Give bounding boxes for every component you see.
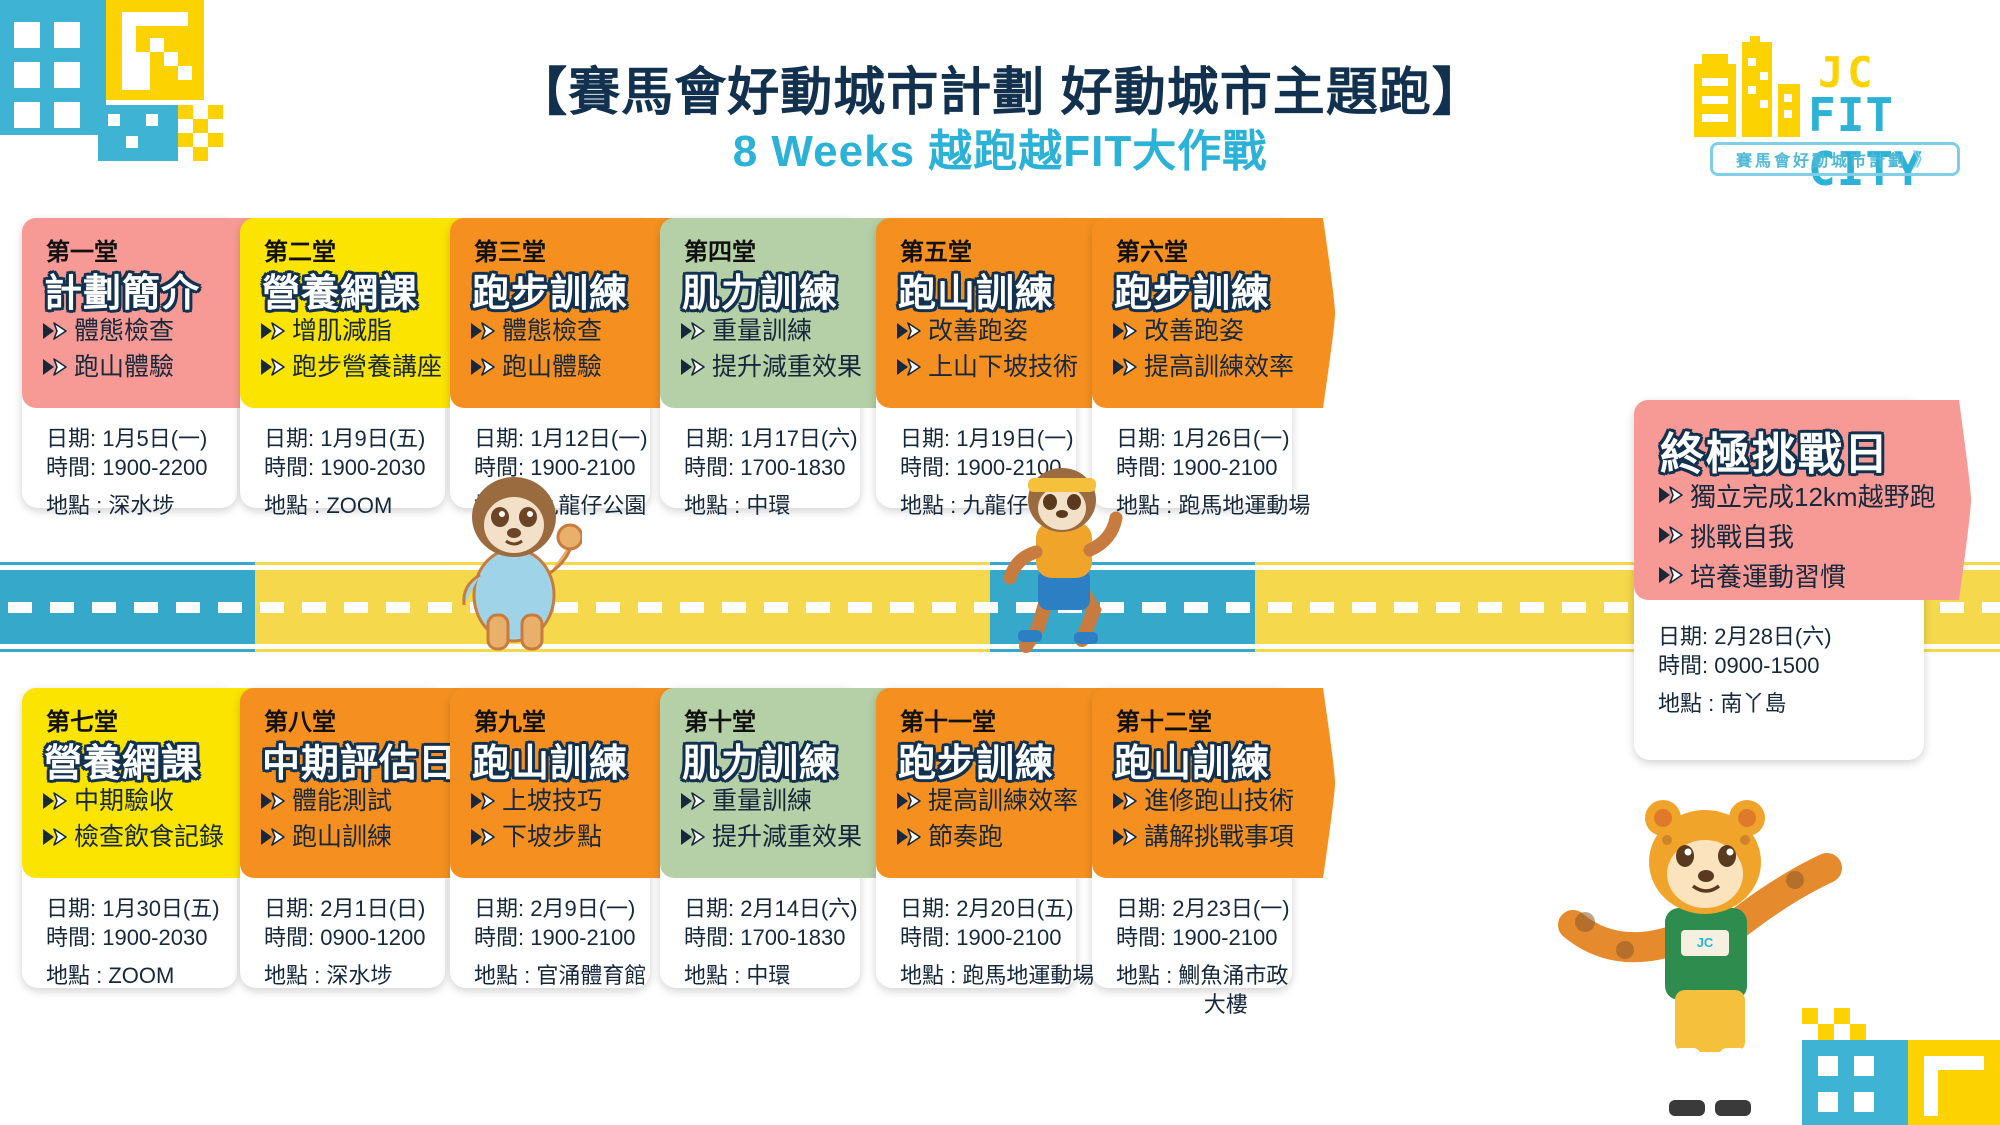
road-dash (1478, 602, 1502, 613)
lesson-time: 時間: 1900-2030 (46, 923, 220, 952)
road-dash (722, 602, 746, 613)
lesson-bullet: 檢查飲食記錄 (42, 820, 224, 854)
lesson-title: 營養網課 (262, 262, 418, 317)
road-dash (344, 602, 368, 613)
double-arrow-bullet-icon (42, 350, 68, 384)
lesson-place: 地點 : 中環 (684, 961, 858, 990)
lesson-meta: 日期: 1月5日(一)時間: 1900-2200地點 : 深水埗 (46, 424, 207, 520)
decor-pixel (1854, 1056, 1874, 1076)
lesson-meta: 日期: 1月30日(五)時間: 1900-2030地點 : ZOOM (46, 894, 220, 990)
lesson-bullet-list: 獨立完成12km越野跑挑戰自我培養運動習慣 (1658, 478, 1936, 598)
road-dash (302, 602, 326, 613)
double-arrow-bullet-icon (680, 314, 706, 348)
lesson-title: 跑山訓練 (1114, 732, 1270, 787)
double-arrow-bullet-icon (896, 820, 922, 854)
lesson-time: 時間: 1900-2100 (474, 923, 646, 952)
lesson-bullet-text: 上山下坡技術 (928, 350, 1078, 384)
lesson-bullet-text: 重量訓練 (712, 314, 812, 348)
lesson-bullet-text: 重量訓練 (712, 784, 812, 818)
lesson-meta: 日期: 1月9日(五)時間: 1900-2030地點 : ZOOM (264, 424, 425, 520)
lesson-bullet-text: 體態檢查 (74, 314, 174, 348)
double-arrow-bullet-icon (896, 350, 922, 384)
lesson-bullet-text: 改善跑姿 (928, 314, 1028, 348)
lesson-card[interactable]: 第十堂肌力訓練重量訓練提升減重效果日期: 2月14日(六)時間: 1700-18… (660, 688, 902, 988)
lesson-bullet: 提升減重效果 (680, 820, 862, 854)
lesson-bullet-text: 獨立完成12km越野跑 (1690, 478, 1936, 516)
lesson-date: 日期: 2月14日(六) (684, 894, 858, 923)
lesson-bullet-list: 改善跑姿提高訓練效率 (1112, 314, 1294, 386)
decor-pixel (1854, 1092, 1874, 1112)
double-arrow-bullet-icon (260, 314, 286, 348)
lesson-bullet-text: 跑山訓練 (292, 820, 392, 854)
lesson-bullet-text: 中期驗收 (74, 784, 174, 818)
double-arrow-bullet-icon (1112, 784, 1138, 818)
double-arrow-bullet-icon (260, 820, 286, 854)
lesson-bullet-text: 檢查飲食記錄 (74, 820, 224, 854)
lesson-bullet: 進修跑山技術 (1112, 784, 1294, 818)
lesson-bullet: 挑戰自我 (1658, 518, 1936, 556)
lesson-bullet-text: 講解挑戰事項 (1144, 820, 1294, 854)
lesson-title: 跑山訓練 (472, 732, 628, 787)
lesson-bullet: 改善跑姿 (896, 314, 1078, 348)
lesson-bullet: 下坡步點 (470, 820, 602, 854)
double-arrow-bullet-icon (1658, 478, 1684, 512)
jc-fit-city-logo: JC FIT CITY 賽馬會好動城市計劃 》 (1690, 32, 1970, 167)
road-dash (1142, 602, 1166, 613)
double-arrow-bullet-icon (896, 314, 922, 348)
lesson-bullet: 重量訓練 (680, 784, 862, 818)
road-dash (134, 602, 158, 613)
lesson-date: 日期: 2月20日(五) (900, 894, 1094, 923)
lesson-bullet: 體能測試 (260, 784, 392, 818)
lesson-date: 日期: 1月19日(一) (900, 424, 1074, 453)
lesson-title: 中期評估日 (262, 732, 457, 787)
lesson-date: 日期: 1月12日(一) (474, 424, 648, 453)
road-dash (1352, 602, 1376, 613)
sloth-mascot-blue (452, 455, 582, 655)
road-dash (680, 602, 704, 613)
road-dash (890, 602, 914, 613)
card-arrow-tip (1291, 688, 1335, 878)
road-dash (596, 602, 620, 613)
lesson-title: 肌力訓練 (682, 262, 838, 317)
city-skyline-icon (1690, 42, 1810, 137)
double-arrow-bullet-icon (1112, 350, 1138, 384)
lesson-title: 跑步訓練 (898, 732, 1054, 787)
lesson-date: 日期: 2月9日(一) (474, 894, 646, 923)
lesson-bullet: 中期驗收 (42, 784, 224, 818)
lesson-place: 地點 : 南丫島 (1658, 689, 1832, 718)
lesson-time: 時間: 1900-2100 (1116, 453, 1310, 482)
double-arrow-bullet-icon (470, 350, 496, 384)
double-arrow-bullet-icon (470, 314, 496, 348)
lesson-bullet-text: 提高訓練效率 (928, 784, 1078, 818)
road-dash (1520, 602, 1544, 613)
double-arrow-bullet-icon (680, 820, 706, 854)
lesson-bullet-text: 改善跑姿 (1144, 314, 1244, 348)
road-dash (848, 602, 872, 613)
lesson-title: 計劃簡介 (44, 262, 200, 317)
lesson-date: 日期: 2月23日(一) (1116, 894, 1290, 923)
road-dash (1436, 602, 1460, 613)
double-arrow-bullet-icon (680, 350, 706, 384)
lesson-time: 時間: 1900-2200 (46, 453, 207, 482)
road-dash (92, 602, 116, 613)
lesson-card[interactable]: 第十一堂跑步訓練提高訓練效率節奏跑日期: 2月20日(五)時間: 1900-21… (876, 688, 1118, 988)
lesson-meta: 日期: 2月28日(六)時間: 0900-1500地點 : 南丫島 (1658, 622, 1832, 718)
lesson-title: 終極挑戰日 (1660, 418, 1890, 482)
lesson-title: 營養網課 (44, 732, 200, 787)
lesson-meta: 日期: 2月23日(一)時間: 1900-2100地點 : 鰂魚涌市政大樓 (1116, 894, 1290, 1019)
lesson-date: 日期: 1月30日(五) (46, 894, 220, 923)
road-dash (8, 602, 32, 613)
double-arrow-bullet-icon (1658, 558, 1684, 592)
road-dash (1394, 602, 1418, 613)
lesson-time: 時間: 0900-1200 (264, 923, 425, 952)
lesson-bullet: 體態檢查 (470, 314, 602, 348)
road-dash (764, 602, 788, 613)
double-arrow-bullet-icon (680, 784, 706, 818)
road-dash (1982, 602, 2000, 613)
lesson-bullet-text: 進修跑山技術 (1144, 784, 1294, 818)
poster-header: 【賽馬會好動城市計劃 好動城市主題跑】 8 Weeks 越跑越FIT大作戰 JC (0, 0, 2000, 190)
lesson-meta: 日期: 2月20日(五)時間: 1900-2100地點 : 跑馬地運動場 (900, 894, 1094, 990)
lesson-bullet-list: 增肌減脂跑步營養講座 (260, 314, 442, 386)
lesson-bullet-list: 體能測試跑山訓練 (260, 784, 392, 856)
lesson-time: 時間: 1700-1830 (684, 923, 858, 952)
lesson-time: 時間: 1900-2100 (900, 923, 1094, 952)
lesson-date: 日期: 1月5日(一) (46, 424, 207, 453)
lesson-place: 地點 : 官涌體育館 (474, 961, 646, 990)
decor-pixel (1924, 1056, 1938, 1116)
double-arrow-bullet-icon (42, 820, 68, 854)
road-dash (932, 602, 956, 613)
double-arrow-bullet-icon (1112, 820, 1138, 854)
lesson-bullet-text: 增肌減脂 (292, 314, 392, 348)
lesson-bullet-text: 上坡技巧 (502, 784, 602, 818)
road-dash (638, 602, 662, 613)
double-arrow-bullet-icon (470, 820, 496, 854)
lesson-time: 時間: 1900-2030 (264, 453, 425, 482)
road-dash (1562, 602, 1586, 613)
double-arrow-bullet-icon (1112, 314, 1138, 348)
lesson-bullet: 跑山體驗 (470, 350, 602, 384)
lesson-place: 地點 : 跑馬地運動場 (900, 961, 1094, 990)
lesson-title: 跑山訓練 (898, 262, 1054, 317)
lesson-bullet: 跑山體驗 (42, 350, 174, 384)
lesson-bullet-text: 體態檢查 (502, 314, 602, 348)
lesson-bullet: 跑步營養講座 (260, 350, 442, 384)
lesson-bullet-text: 節奏跑 (928, 820, 1003, 854)
lesson-bullet-text: 跑山體驗 (502, 350, 602, 384)
lesson-place: 地點 : ZOOM (264, 491, 425, 520)
road-dash (50, 602, 74, 613)
lesson-bullet: 上坡技巧 (470, 784, 602, 818)
road-dash (1268, 602, 1292, 613)
lesson-bullet: 增肌減脂 (260, 314, 442, 348)
lesson-title: 肌力訓練 (682, 732, 838, 787)
lesson-title: 跑步訓練 (472, 262, 628, 317)
lesson-bullet-text: 挑戰自我 (1690, 518, 1794, 556)
lesson-date: 日期: 2月28日(六) (1658, 622, 1832, 651)
poster-root: 【賽馬會好動城市計劃 好動城市主題跑】 8 Weeks 越跑越FIT大作戰 JC (0, 0, 2000, 1125)
lesson-bullet: 獨立完成12km越野跑 (1658, 478, 1936, 516)
lesson-meta: 日期: 2月14日(六)時間: 1700-1830地點 : 中環 (684, 894, 858, 990)
lesson-place: 地點 : 深水埗 (264, 961, 425, 990)
lesson-place: 地點 : 中環 (684, 491, 858, 520)
decor-block-yellow (1908, 1040, 2000, 1125)
runner-mascot-orange (990, 460, 1130, 655)
final-challenge-card[interactable]: 終極挑戰日獨立完成12km越野跑挑戰自我培養運動習慣日期: 2月28日(六)時間… (1634, 400, 1970, 760)
road-dash (218, 602, 242, 613)
lesson-bullet: 培養運動習慣 (1658, 558, 1936, 596)
road-dash (1184, 602, 1208, 613)
lesson-bullet-text: 體能測試 (292, 784, 392, 818)
lesson-meta: 日期: 1月17日(六)時間: 1700-1830地點 : 中環 (684, 424, 858, 520)
logo-subtitle-text: 賽馬會好動城市計劃 (1736, 147, 1907, 171)
road-dash (386, 602, 410, 613)
road-dash (428, 602, 452, 613)
lesson-date: 日期: 1月17日(六) (684, 424, 858, 453)
road-dash (1604, 602, 1628, 613)
lesson-bullet-text: 培養運動習慣 (1690, 558, 1846, 596)
svg-text:JC: JC (1697, 935, 1714, 950)
double-arrow-bullet-icon (260, 350, 286, 384)
lesson-bullet-list: 提高訓練效率節奏跑 (896, 784, 1078, 856)
road-segment (0, 562, 255, 652)
road-dash (260, 602, 284, 613)
lesson-place-line2: 大樓 (1116, 990, 1290, 1019)
double-arrow-bullet-icon (470, 784, 496, 818)
road-dash (176, 602, 200, 613)
double-arrow-bullet-icon (42, 784, 68, 818)
lesson-place: 地點 : 跑馬地運動場 (1116, 491, 1310, 520)
lesson-bullet: 改善跑姿 (1112, 314, 1294, 348)
double-chevron-right-icon: 》 (1913, 146, 1934, 172)
double-arrow-bullet-icon (1658, 518, 1684, 552)
lesson-bullet-list: 進修跑山技術講解挑戰事項 (1112, 784, 1294, 856)
logo-subtitle-pill: 賽馬會好動城市計劃 》 (1710, 142, 1960, 176)
lesson-bullet: 上山下坡技術 (896, 350, 1078, 384)
lesson-time: 時間: 1900-2100 (1116, 923, 1290, 952)
lesson-bullet: 提升減重效果 (680, 350, 862, 384)
lesson-bullet-list: 中期驗收檢查飲食記錄 (42, 784, 224, 856)
lesson-bullet-text: 下坡步點 (502, 820, 602, 854)
road-dash (1310, 602, 1334, 613)
lesson-bullet: 提高訓練效率 (1112, 350, 1294, 384)
lesson-meta: 日期: 1月26日(一)時間: 1900-2100地點 : 跑馬地運動場 (1116, 424, 1310, 520)
lesson-bullet: 體態檢查 (42, 314, 174, 348)
lesson-card[interactable]: 第九堂跑山訓練上坡技巧下坡步點日期: 2月9日(一)時間: 1900-2100地… (450, 688, 692, 988)
lesson-bullet-text: 跑步營養講座 (292, 350, 442, 384)
lesson-bullet-list: 重量訓練提升減重效果 (680, 314, 862, 386)
leopard-mascot: JC (1555, 790, 1855, 1125)
lesson-title: 跑步訓練 (1114, 262, 1270, 317)
lesson-bullet: 跑山訓練 (260, 820, 392, 854)
lesson-card[interactable]: 第四堂肌力訓練重量訓練提升減重效果日期: 1月17日(六)時間: 1700-18… (660, 218, 902, 508)
lesson-bullet-list: 體態檢查跑山體驗 (42, 314, 174, 386)
double-arrow-bullet-icon (896, 784, 922, 818)
lesson-bullet-list: 體態檢查跑山體驗 (470, 314, 602, 386)
lesson-bullet: 重量訓練 (680, 314, 862, 348)
lesson-meta: 日期: 2月1日(日)時間: 0900-1200地點 : 深水埗 (264, 894, 425, 990)
lesson-bullet-text: 提升減重效果 (712, 820, 862, 854)
lesson-place: 地點 : ZOOM (46, 961, 220, 990)
double-arrow-bullet-icon (42, 314, 68, 348)
lesson-bullet: 講解挑戰事項 (1112, 820, 1294, 854)
lesson-date: 日期: 1月26日(一) (1116, 424, 1310, 453)
lesson-place: 地點 : 深水埗 (46, 491, 207, 520)
lesson-bullet-list: 上坡技巧下坡步點 (470, 784, 602, 856)
lesson-date: 日期: 1月9日(五) (264, 424, 425, 453)
road-dash (1226, 602, 1250, 613)
card-arrow-tip (1291, 218, 1335, 408)
lesson-time: 時間: 1700-1830 (684, 453, 858, 482)
double-arrow-bullet-icon (260, 784, 286, 818)
lesson-bullet: 提高訓練效率 (896, 784, 1078, 818)
lesson-meta: 日期: 2月9日(一)時間: 1900-2100地點 : 官涌體育館 (474, 894, 646, 990)
lesson-bullet-text: 提高訓練效率 (1144, 350, 1294, 384)
lesson-card[interactable]: 第十二堂跑山訓練進修跑山技術講解挑戰事項日期: 2月23日(一)時間: 1900… (1092, 688, 1334, 988)
lesson-time: 時間: 0900-1500 (1658, 651, 1832, 680)
road-dash (806, 602, 830, 613)
lesson-bullet: 節奏跑 (896, 820, 1078, 854)
lesson-bullet-text: 跑山體驗 (74, 350, 174, 384)
lesson-bullet-text: 提升減重效果 (712, 350, 862, 384)
lesson-bullet-list: 重量訓練提升減重效果 (680, 784, 862, 856)
lesson-bullet-list: 改善跑姿上山下坡技術 (896, 314, 1078, 386)
lesson-place: 地點 : 鰂魚涌市政 (1116, 961, 1290, 990)
lesson-date: 日期: 2月1日(日) (264, 894, 425, 923)
